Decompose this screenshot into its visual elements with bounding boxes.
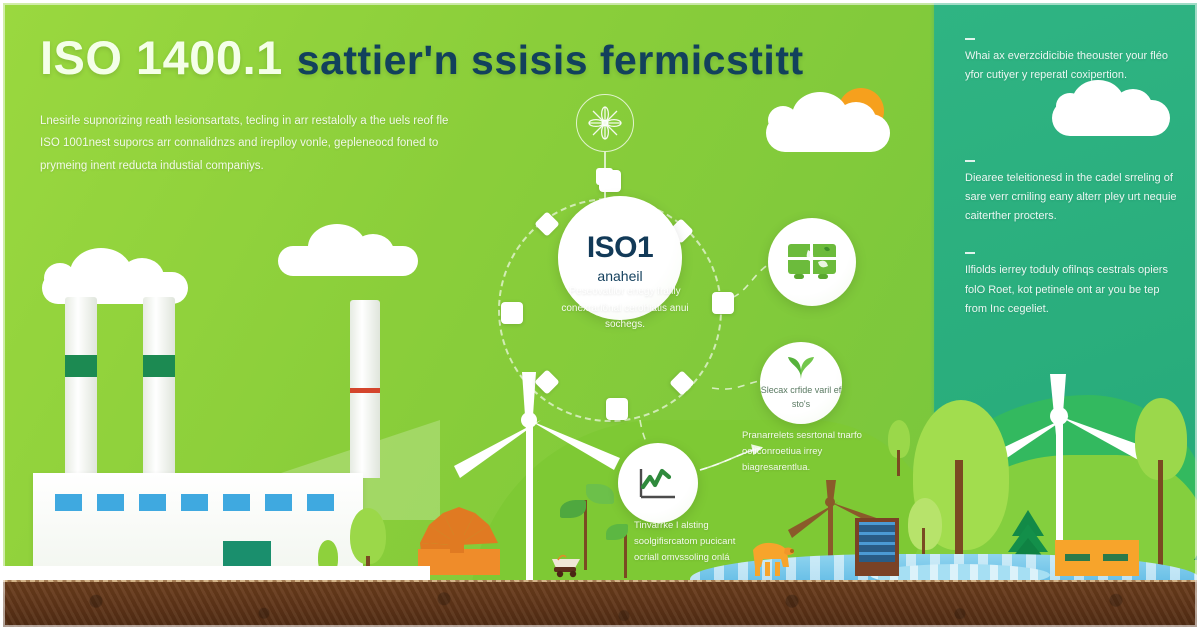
bullet-item-3: Ilfiolds ierrey toduly ofilnqs cestrals … bbox=[965, 252, 1180, 319]
chart-bubble[interactable] bbox=[618, 443, 698, 523]
ring-node-right[interactable] bbox=[712, 292, 734, 314]
core-label-primary: ISO1 bbox=[587, 233, 653, 263]
smokestack-right bbox=[350, 300, 380, 478]
pine-tree-2 bbox=[1190, 520, 1200, 578]
bullet-dash-icon bbox=[965, 252, 975, 254]
leaf-bubble-label: Slecax crfide varil ef sto's bbox=[760, 384, 842, 410]
flower-rosette-icon bbox=[576, 94, 634, 152]
tree-mid-pale bbox=[908, 498, 942, 550]
note-near-leaf: Pranarrelets sesrtonal tnarfo ooliconroe… bbox=[742, 428, 882, 476]
cloud-with-sun bbox=[766, 114, 890, 152]
cloud-right-panel bbox=[1052, 100, 1170, 136]
tree-trunk bbox=[1158, 460, 1163, 578]
leaf-bubble[interactable]: Slecax crfide varil ef sto's bbox=[760, 342, 842, 424]
warehouse-window bbox=[1103, 554, 1128, 561]
orange-warehouse bbox=[1055, 540, 1139, 576]
tree-trunk bbox=[897, 450, 900, 476]
ring-node-left[interactable] bbox=[501, 302, 523, 324]
factory-base-strip bbox=[0, 566, 430, 580]
note-near-chart: Tinvarrke I alsting soolgifisrcatom puci… bbox=[634, 518, 744, 566]
stack-band-green bbox=[65, 355, 97, 377]
page-title: ISO 1400.1sattier'n ssisis fermicstitt bbox=[40, 30, 900, 85]
bullet-text-1: Whai ax everzcidicibie theouster your fl… bbox=[965, 47, 1180, 86]
cloud-over-factory-right bbox=[278, 246, 418, 276]
growth-chart-check-icon bbox=[635, 463, 681, 503]
factory-building bbox=[33, 473, 363, 578]
stack-band-red bbox=[350, 388, 380, 393]
smokestack-mid bbox=[143, 297, 175, 477]
leaf-icon bbox=[786, 355, 816, 381]
page-subtitle: Lnesirle supnorizing reath lesionsartats… bbox=[40, 110, 450, 177]
solar-panel-building bbox=[855, 518, 899, 576]
ring-node-bottom[interactable] bbox=[606, 398, 628, 420]
bullet-dash-icon bbox=[965, 160, 975, 162]
truck-bubble[interactable] bbox=[768, 218, 856, 306]
stack-band-green bbox=[143, 355, 175, 377]
factory-window bbox=[307, 494, 334, 511]
bullet-dash-icon bbox=[965, 38, 975, 40]
soil-layer bbox=[0, 582, 1200, 630]
smokestack-left bbox=[65, 297, 97, 477]
title-subtext: sattier'n ssisis fermicstitt bbox=[297, 37, 804, 83]
factory-window bbox=[139, 494, 166, 511]
solar-panel-grid bbox=[859, 522, 895, 562]
factory-window bbox=[181, 494, 208, 511]
factory-window bbox=[55, 494, 82, 511]
factory-window bbox=[265, 494, 292, 511]
seed-connector-node[interactable] bbox=[596, 168, 613, 185]
bullet-item-1: Whai ax everzcidicibie theouster your fl… bbox=[965, 38, 1180, 86]
factory-window bbox=[97, 494, 124, 511]
infographic-canvas: ISO 1400.1sattier'n ssisis fermicstitt L… bbox=[0, 0, 1200, 630]
core-label-secondary: anaheil bbox=[597, 268, 642, 284]
bullet-text-3: Ilfiolds ierrey toduly ofilnqs cestrals … bbox=[965, 261, 1180, 319]
bullet-text-2: Diearee teleitionesd in the cadel srreli… bbox=[965, 169, 1180, 227]
core-caption: Peseovatlior enegy frallly conexrarlônal… bbox=[540, 284, 710, 334]
factory-window bbox=[223, 494, 250, 511]
title-standard-code: ISO 1400.1 bbox=[40, 31, 283, 84]
cow-icon bbox=[745, 540, 797, 576]
right-bullet-panel: Whai ax everzcidicibie theouster your fl… bbox=[965, 38, 1180, 345]
bullet-item-2: Diearee teleitionesd in the cadel srreli… bbox=[965, 160, 1180, 227]
delivery-truck-icon bbox=[784, 238, 840, 286]
warehouse-window bbox=[1065, 554, 1090, 561]
